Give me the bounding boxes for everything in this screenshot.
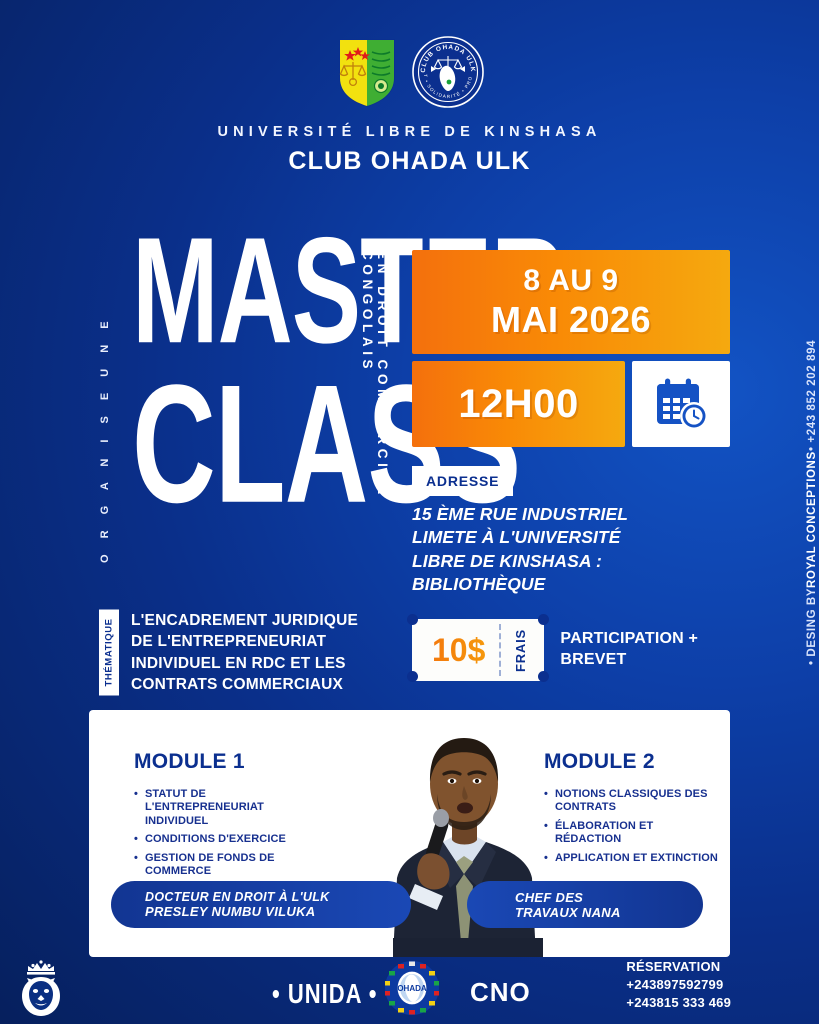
lion-crown-logo-icon [10,958,72,1018]
bullet-icon: • [544,820,548,847]
price-desc-line-2: BREVET [560,650,698,671]
calendar-clock-icon [652,375,710,433]
price-description: PARTICIPATION + BREVET [560,629,698,671]
address-line-1: 15 ÈME RUE INDUSTRIEL [412,503,717,526]
bullet-icon: • [134,852,138,879]
partner-cno: CNO [470,977,531,1008]
credit-designer: • DESING BY ROYAL CONCEPTIONS • +243 852… [806,295,818,665]
bullet-icon: • [134,833,138,846]
module-2-item: •NOTIONS CLASSIQUES DES CONTRATS [544,788,719,815]
module-1-item: •GESTION DE FONDS DE COMMERCE [134,852,324,879]
module-2-item-label: ÉLABORATION ET RÉDACTION [555,820,719,847]
module-1-item-label: GESTION DE FONDS DE COMMERCE [145,852,324,879]
poster-header: CLUB OHADA ULK DROIT • SOLIDARITÉ • PROG… [0,36,819,176]
speaker-1-name: PRESLEY NUMBU VILUKA [145,904,411,919]
calendar-box [632,361,730,447]
price-ticket: 10$ FRAIS [412,619,544,681]
module-1: MODULE 1 •STATUT DE L'ENTREPRENEURIAT IN… [134,750,324,883]
thematique-text: L'ENCADREMENT JURIDIQUE DE L'ENTREPRENEU… [131,610,358,696]
module-1-item-label: CONDITIONS D'EXERCICE [145,833,286,846]
date-month-year: MAI 2026 [491,299,651,341]
module-2-list: •NOTIONS CLASSIQUES DES CONTRATS •ÉLABOR… [544,788,719,865]
credit-brand: ROYAL CONCEPTIONS [806,451,818,588]
module-2-item: •ÉLABORATION ET RÉDACTION [544,820,719,847]
reservation-title: RÉSERVATION [626,958,731,976]
header-logos: CLUB OHADA ULK DROIT • SOLIDARITÉ • PROG… [0,36,819,108]
time-row: 12H00 [412,361,730,447]
thematique-line-1: L'ENCADREMENT JURIDIQUE [131,610,358,631]
speaker-banner-1: DOCTEUR EN DROIT À L'ULK PRESLEY NUMBU V… [111,881,411,928]
bullet-icon: • [544,788,548,815]
reservation-phone-1[interactable]: +243897592799 [626,976,731,994]
module-2-item-label: APPLICATION ET EXTINCTION [555,852,718,865]
university-name: UNIVERSITÉ LIBRE DE KINSHASA [0,124,819,140]
label-organise-une: O R G A N I S E U N E [99,243,111,563]
date-box: 8 AU 9 MAI 2026 [412,250,730,354]
bullet-icon: • [134,788,138,828]
svg-text:OHADA: OHADA [397,984,427,993]
reservation-phone-2[interactable]: +243815 333 469 [626,994,731,1012]
ohada-logo-icon: OHADA [384,960,440,1016]
module-2-item: •APPLICATION ET EXTINCTION [544,852,719,865]
thematique-tab: THÉMATIQUE [99,610,119,696]
address-tag: ADRESSE [412,466,513,496]
time-box: 12H00 [412,361,625,447]
bullet-icon: • [544,852,548,865]
modules-card: MODULE 1 •STATUT DE L'ENTREPRENEURIAT IN… [89,710,730,957]
thematique-line-2: DE L'ENTREPRENEURIAT [131,631,358,652]
module-1-item-label: STATUT DE L'ENTREPRENEURIAT INDIVIDUEL [145,788,324,828]
credit-prefix: • DESING BY [806,588,818,665]
credit-suffix: • +243 852 202 894 [806,340,818,451]
speaker-banner-2: CHEF DES TRAVAUX NANA [467,881,703,928]
address-line-2: LIMETE À L'UNIVERSITÉ [412,526,717,549]
module-2-title: MODULE 2 [544,750,719,774]
date-days: 8 AU 9 [523,264,618,298]
address-text: 15 ÈME RUE INDUSTRIEL LIMETE À L'UNIVERS… [412,503,717,597]
partner-unida: • UNIDA • [272,978,377,1011]
module-1-item: •CONDITIONS D'EXERCICE [134,833,324,846]
module-1-list: •STATUT DE L'ENTREPRENEURIAT INDIVIDUEL … [134,788,324,878]
module-2-item-label: NOTIONS CLASSIQUES DES CONTRATS [555,788,719,815]
module-1-item: •STATUT DE L'ENTREPRENEURIAT INDIVIDUEL [134,788,324,828]
price-amount: 10$ [416,632,499,669]
club-ohada-seal-icon: CLUB OHADA ULK DROIT • SOLIDARITÉ • PROG… [412,36,484,108]
speaker-2-role: CHEF DES [515,890,703,905]
thematique-line-3: INDIVIDUEL EN RDC ET LES [131,653,358,674]
ulk-crest-icon [336,36,398,108]
speaker-1-role: DOCTEUR EN DROIT À L'ULK [145,890,411,904]
speaker-2-name: TRAVAUX NANA [515,905,703,920]
price-block: 10$ FRAIS PARTICIPATION + BREVET [412,619,698,681]
poster-footer: • UNIDA • OHADA [0,957,819,1024]
poster-root: CLUB OHADA ULK DROIT • SOLIDARITÉ • PROG… [0,0,819,1024]
time-value: 12H00 [458,382,578,427]
thematique-block: THÉMATIQUE L'ENCADREMENT JURIDIQUE DE L'… [99,610,358,696]
address-line-3: LIBRE DE KINSHASA : [412,550,717,573]
module-1-title: MODULE 1 [134,750,324,774]
thematique-line-4: CONTRATS COMMERCIAUX [131,674,358,695]
price-desc-line-1: PARTICIPATION + [560,629,698,650]
schedule-panel: 8 AU 9 MAI 2026 12H00 [412,250,730,447]
reservation-block: RÉSERVATION +243897592799 +243815 333 46… [626,958,731,1012]
module-2: MODULE 2 •NOTIONS CLASSIQUES DES CONTRAT… [544,750,719,870]
address-line-4: BIBLIOTHÈQUE [412,573,717,596]
club-name: CLUB OHADA ULK [0,147,819,176]
price-frais-label: FRAIS [501,629,540,672]
